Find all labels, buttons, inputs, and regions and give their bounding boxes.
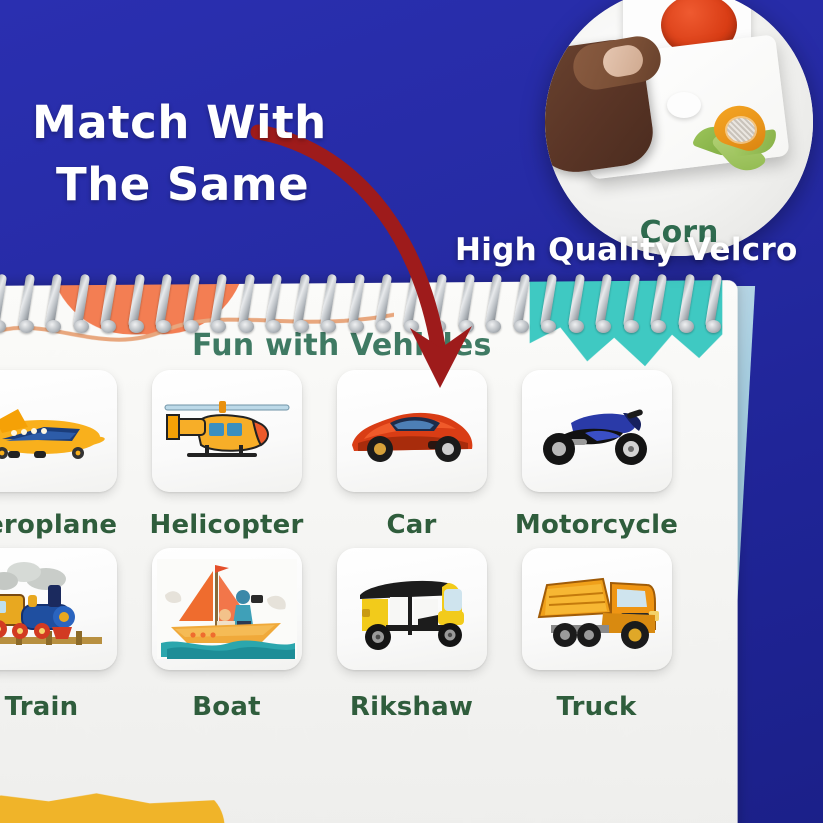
- promo-image: Match With The Same Corn High Quality Ve…: [0, 0, 823, 823]
- card-cell-rikshaw[interactable]: Rikshaw: [330, 548, 493, 722]
- yellow-decor-blob: [0, 786, 225, 823]
- flash-card[interactable]: [152, 548, 302, 670]
- card-row-2: Train: [0, 548, 700, 722]
- card-label: Truck: [557, 692, 637, 722]
- card-label: Helicopter: [150, 510, 304, 540]
- sailboat-icon: [157, 559, 297, 659]
- velcro-caption: High Quality Velcro: [455, 232, 798, 268]
- flash-card[interactable]: [522, 548, 672, 670]
- card-label: Car: [386, 510, 436, 540]
- corn-icon: [693, 104, 779, 178]
- truck-icon: [527, 559, 667, 659]
- card-label: Boat: [192, 692, 260, 722]
- card-label: Aeroplane: [0, 510, 117, 540]
- flash-card[interactable]: [0, 548, 117, 670]
- card-label: Rikshaw: [350, 692, 473, 722]
- rickshaw-icon: [342, 559, 482, 659]
- flash-card[interactable]: [522, 370, 672, 492]
- card-cell-motorcycle[interactable]: Motorcycle: [515, 370, 678, 540]
- card-label: Train: [5, 692, 79, 722]
- vehicle-card-grid: Aeroplane: [0, 370, 700, 730]
- card-label: Motorcycle: [515, 510, 678, 540]
- card-cell-train[interactable]: Train: [0, 548, 123, 722]
- card-cell-aeroplane[interactable]: Aeroplane: [0, 370, 123, 540]
- flash-card[interactable]: [337, 548, 487, 670]
- airplane-icon: [0, 383, 112, 479]
- headline: Match With The Same: [32, 92, 362, 216]
- headline-line-2: The Same: [32, 154, 362, 216]
- headline-line-1: Match With: [32, 92, 362, 154]
- card-cell-truck[interactable]: Truck: [515, 548, 678, 722]
- card-cell-boat[interactable]: Boat: [145, 548, 308, 722]
- train-icon: [0, 559, 112, 659]
- motorcycle-icon: [527, 383, 667, 479]
- flash-card[interactable]: [0, 370, 117, 492]
- velcro-detail-inset: Corn: [545, 0, 813, 256]
